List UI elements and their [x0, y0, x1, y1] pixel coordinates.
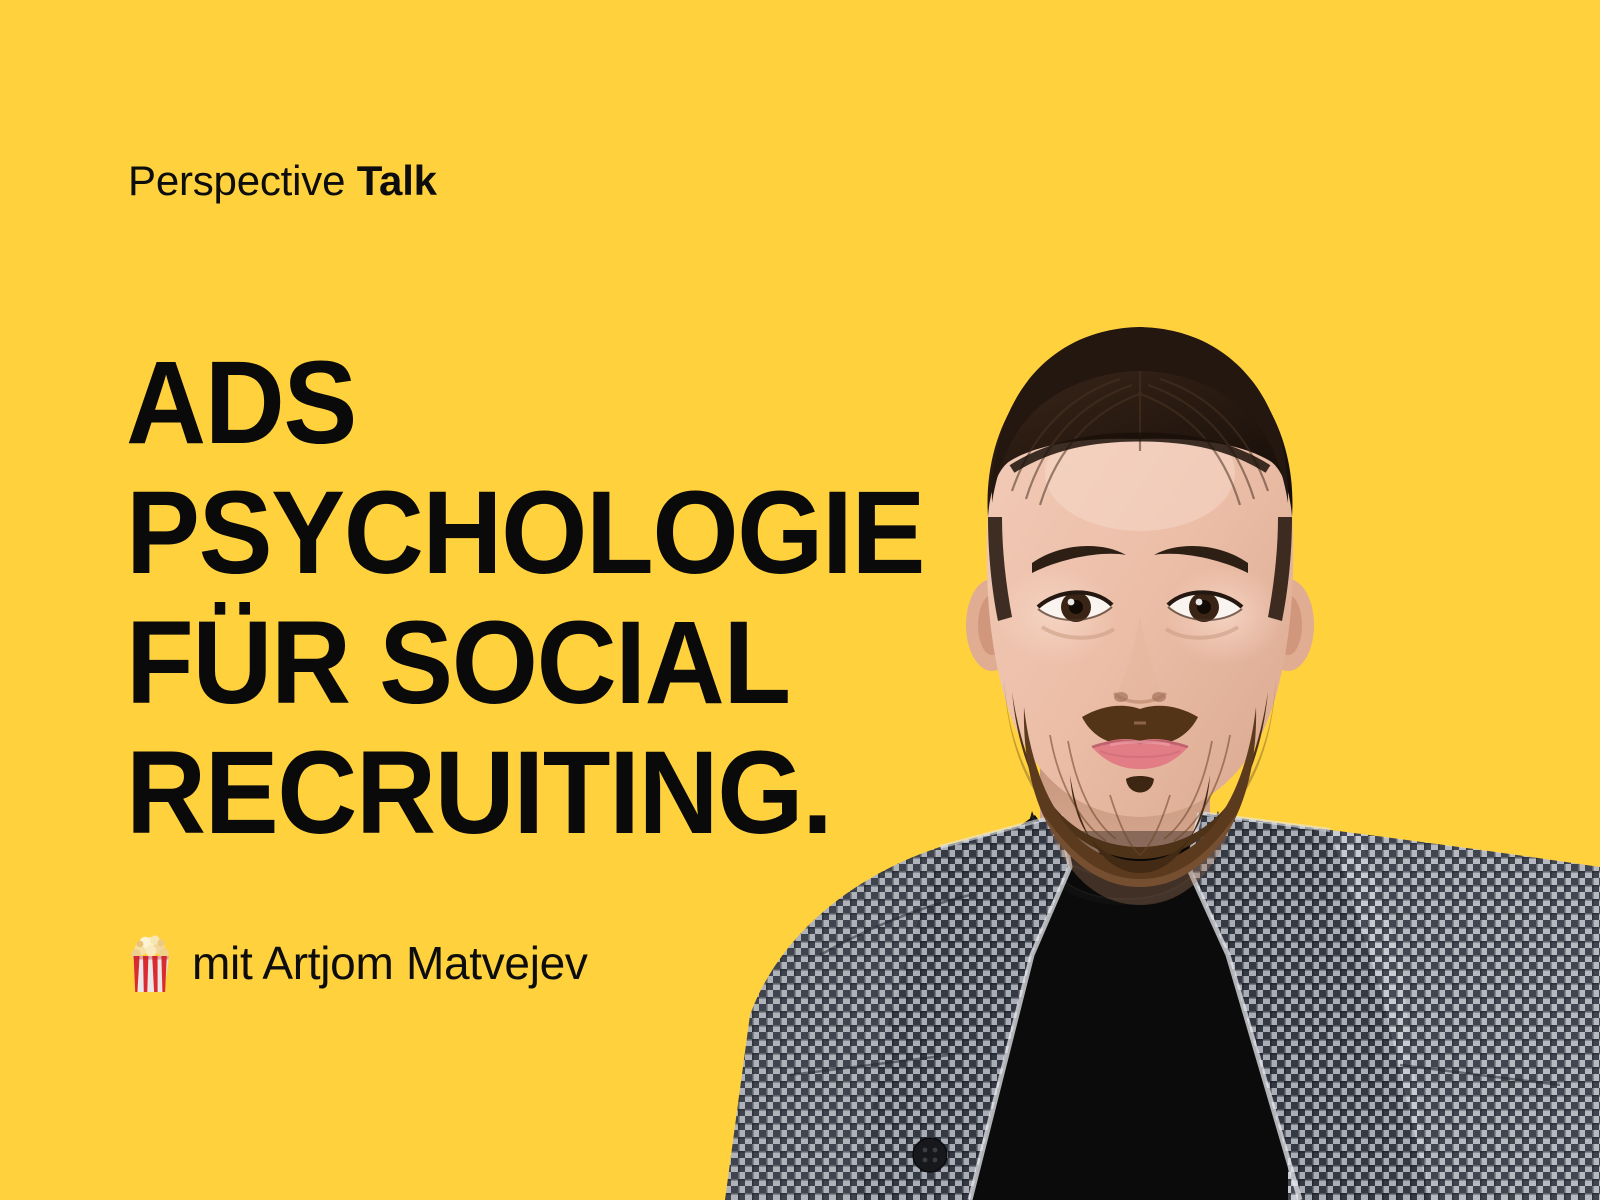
brand-title: Perspective Talk — [128, 160, 437, 202]
speaker-portrait — [640, 255, 1600, 1200]
brand-title-regular: Perspective — [128, 157, 345, 204]
brand-title-bold: Talk — [357, 157, 437, 204]
talk-promo-card: Perspective Talk ADS PSYCHOLOGIE FÜR SOC… — [0, 0, 1600, 1200]
popcorn-emoji — [128, 932, 174, 994]
presenter-credit: mit Artjom Matvejev — [128, 932, 588, 994]
jacket-button — [913, 1138, 947, 1172]
presenter-label: mit Artjom Matvejev — [192, 940, 588, 986]
